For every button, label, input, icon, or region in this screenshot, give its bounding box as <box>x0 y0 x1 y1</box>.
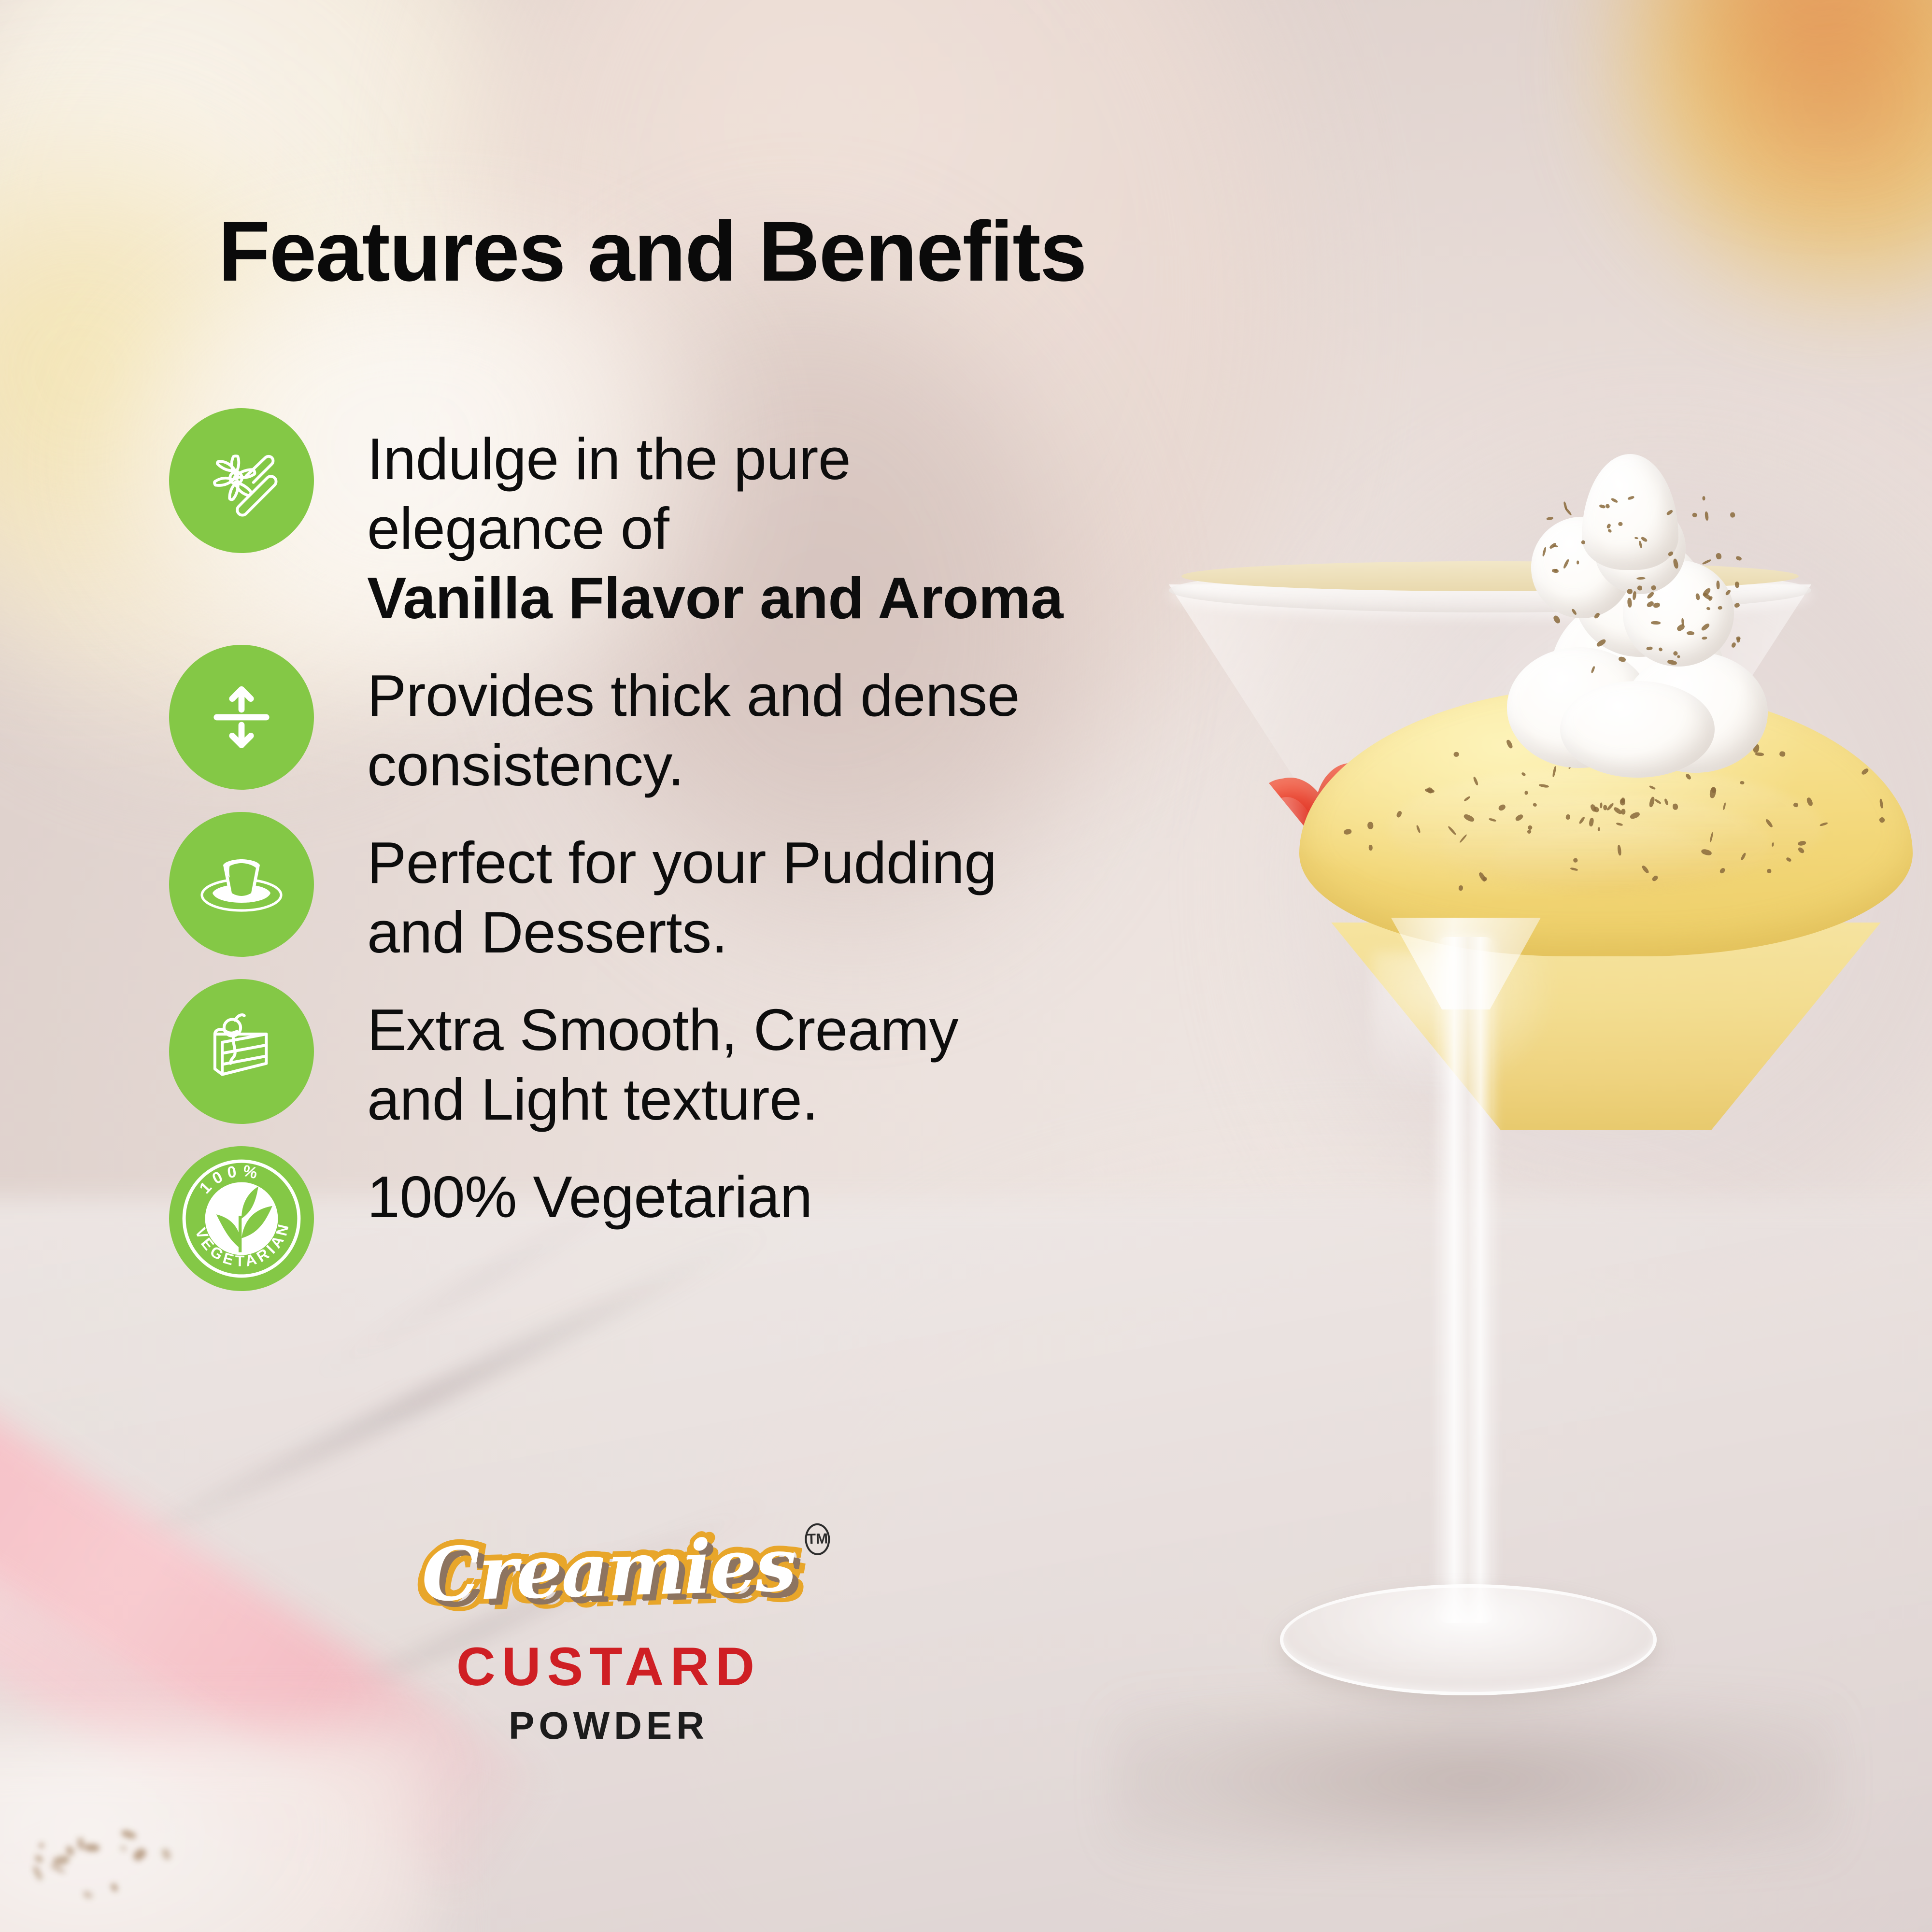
page-title: Features and Benefits <box>218 203 1086 300</box>
feature-text: Perfect for your Pudding and Desserts. <box>367 812 997 967</box>
vegetarian-badge-icon: 100% VEGETARIAN <box>169 1146 314 1291</box>
brand-name: Creamies TM <box>421 1521 796 1618</box>
feature-line-1: Extra Smooth, Creamy <box>367 995 958 1065</box>
chocolate-shaving <box>1577 561 1579 565</box>
feature-line-2: Vanilla Flavor and Aroma <box>367 564 1087 633</box>
brand-logo: Creamies TM CUSTARD POWDER <box>415 1526 802 1745</box>
feature-row: Indulge in the pure elegance of Vanilla … <box>169 408 1087 633</box>
product-line-powder: POWDER <box>415 1706 802 1745</box>
feature-text: Provides thick and dense consistency. <box>367 645 1020 800</box>
feature-line-1: Indulge in the pure elegance of <box>367 425 1087 564</box>
feature-row: 100% VEGETARIAN 100% Vegetarian <box>169 1146 1087 1291</box>
feature-text: Extra Smooth, Creamy and Light texture. <box>367 979 958 1135</box>
chocolate-shaving <box>1618 522 1622 526</box>
feature-line-2: and Light texture. <box>367 1065 958 1135</box>
features-list: Indulge in the pure elegance of Vanilla … <box>169 408 1087 1291</box>
chocolate-shaving <box>1651 621 1661 625</box>
cake-slice-cherry-icon <box>169 979 314 1124</box>
feature-line-2: consistency. <box>367 731 1020 800</box>
chocolate-shaving <box>1730 512 1735 517</box>
vanilla-flower-bean-icon <box>169 408 314 553</box>
pudding-flan-icon <box>169 812 314 957</box>
feature-row: Perfect for your Pudding and Desserts. <box>169 812 1087 967</box>
feature-row: Extra Smooth, Creamy and Light texture. <box>169 979 1087 1135</box>
feature-row: Provides thick and dense consistency. <box>169 645 1087 800</box>
thickness-arrows-icon <box>169 645 314 790</box>
feature-line-2: and Desserts. <box>367 898 997 967</box>
chocolate-shaving <box>1734 582 1739 588</box>
product-line-custard: CUSTARD <box>415 1640 802 1694</box>
feature-line-1: Provides thick and dense <box>367 661 1020 731</box>
feature-line-1: Perfect for your Pudding <box>367 828 997 898</box>
whipped-cream-lobe <box>1560 681 1715 778</box>
feature-text: Indulge in the pure elegance of Vanilla … <box>367 408 1087 633</box>
feature-text: 100% Vegetarian <box>367 1146 812 1232</box>
feature-line-1: 100% Vegetarian <box>367 1163 812 1232</box>
brand-name-text: Creamies <box>421 1521 796 1618</box>
chocolate-shaving <box>1718 606 1722 610</box>
trademark-symbol: TM <box>805 1523 831 1555</box>
